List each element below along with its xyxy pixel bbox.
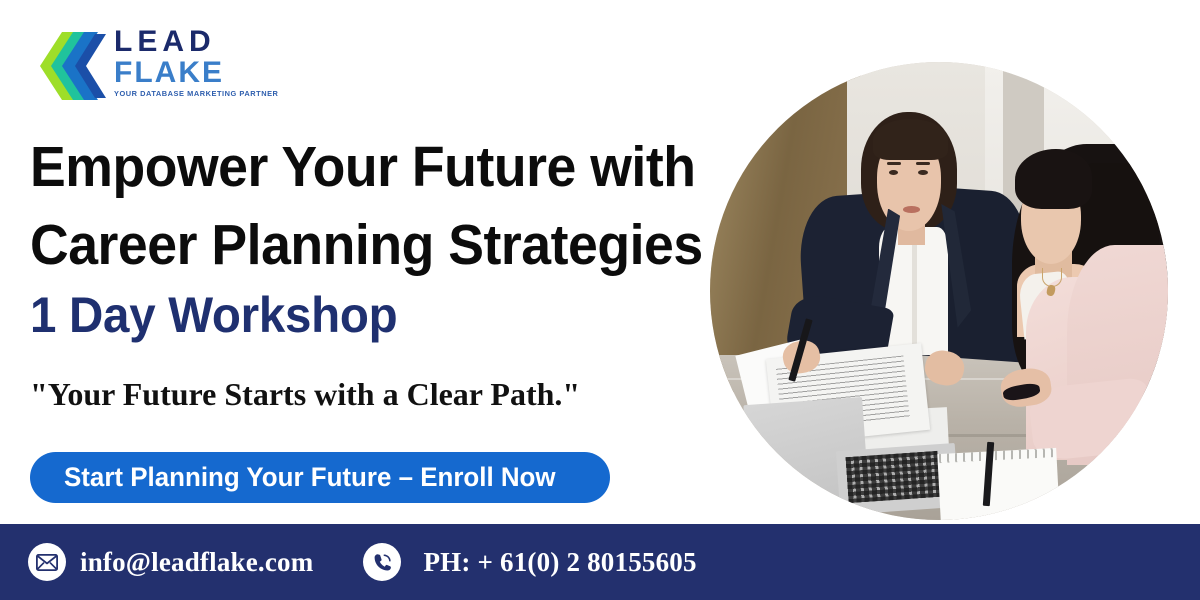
brand-logo[interactable]: LEAD FLAKE YOUR DATABASE MARKETING PARTN…: [32, 26, 272, 106]
phone-icon: [363, 543, 401, 581]
meeting-photo: [710, 62, 1168, 520]
brand-name-secondary: FLAKE: [114, 57, 274, 88]
brand-wordmark: LEAD FLAKE YOUR DATABASE MARKETING PARTN…: [114, 26, 274, 99]
brand-tagline: YOUR DATABASE MARKETING PARTNER: [114, 89, 274, 99]
chevron-stack-icon: [32, 30, 110, 102]
hero-tagline: "Your Future Starts with a Clear Path.": [30, 374, 580, 414]
brand-name-primary: LEAD: [114, 26, 274, 57]
contact-footer: info@leadflake.com PH: + 61(0) 2 8015560…: [0, 524, 1200, 600]
subheadline: 1 Day Workshop: [30, 284, 397, 346]
envelope-icon: [28, 543, 66, 581]
contact-phone-label: PH: + 61(0) 2 80155605: [423, 547, 696, 578]
enroll-cta-label: Start Planning Your Future – Enroll Now: [64, 462, 556, 493]
contact-phone[interactable]: PH: + 61(0) 2 80155605: [363, 543, 696, 581]
headline-line-1: Empower Your Future with: [30, 128, 679, 206]
enroll-cta-button[interactable]: Start Planning Your Future – Enroll Now: [30, 452, 610, 503]
headline-line-2: Career Planning Strategies: [30, 206, 679, 284]
headline: Empower Your Future with Career Planning…: [30, 128, 720, 284]
contact-email[interactable]: info@leadflake.com: [28, 543, 313, 581]
event-banner: LEAD FLAKE YOUR DATABASE MARKETING PARTN…: [0, 0, 1200, 600]
contact-email-label: info@leadflake.com: [80, 547, 313, 578]
